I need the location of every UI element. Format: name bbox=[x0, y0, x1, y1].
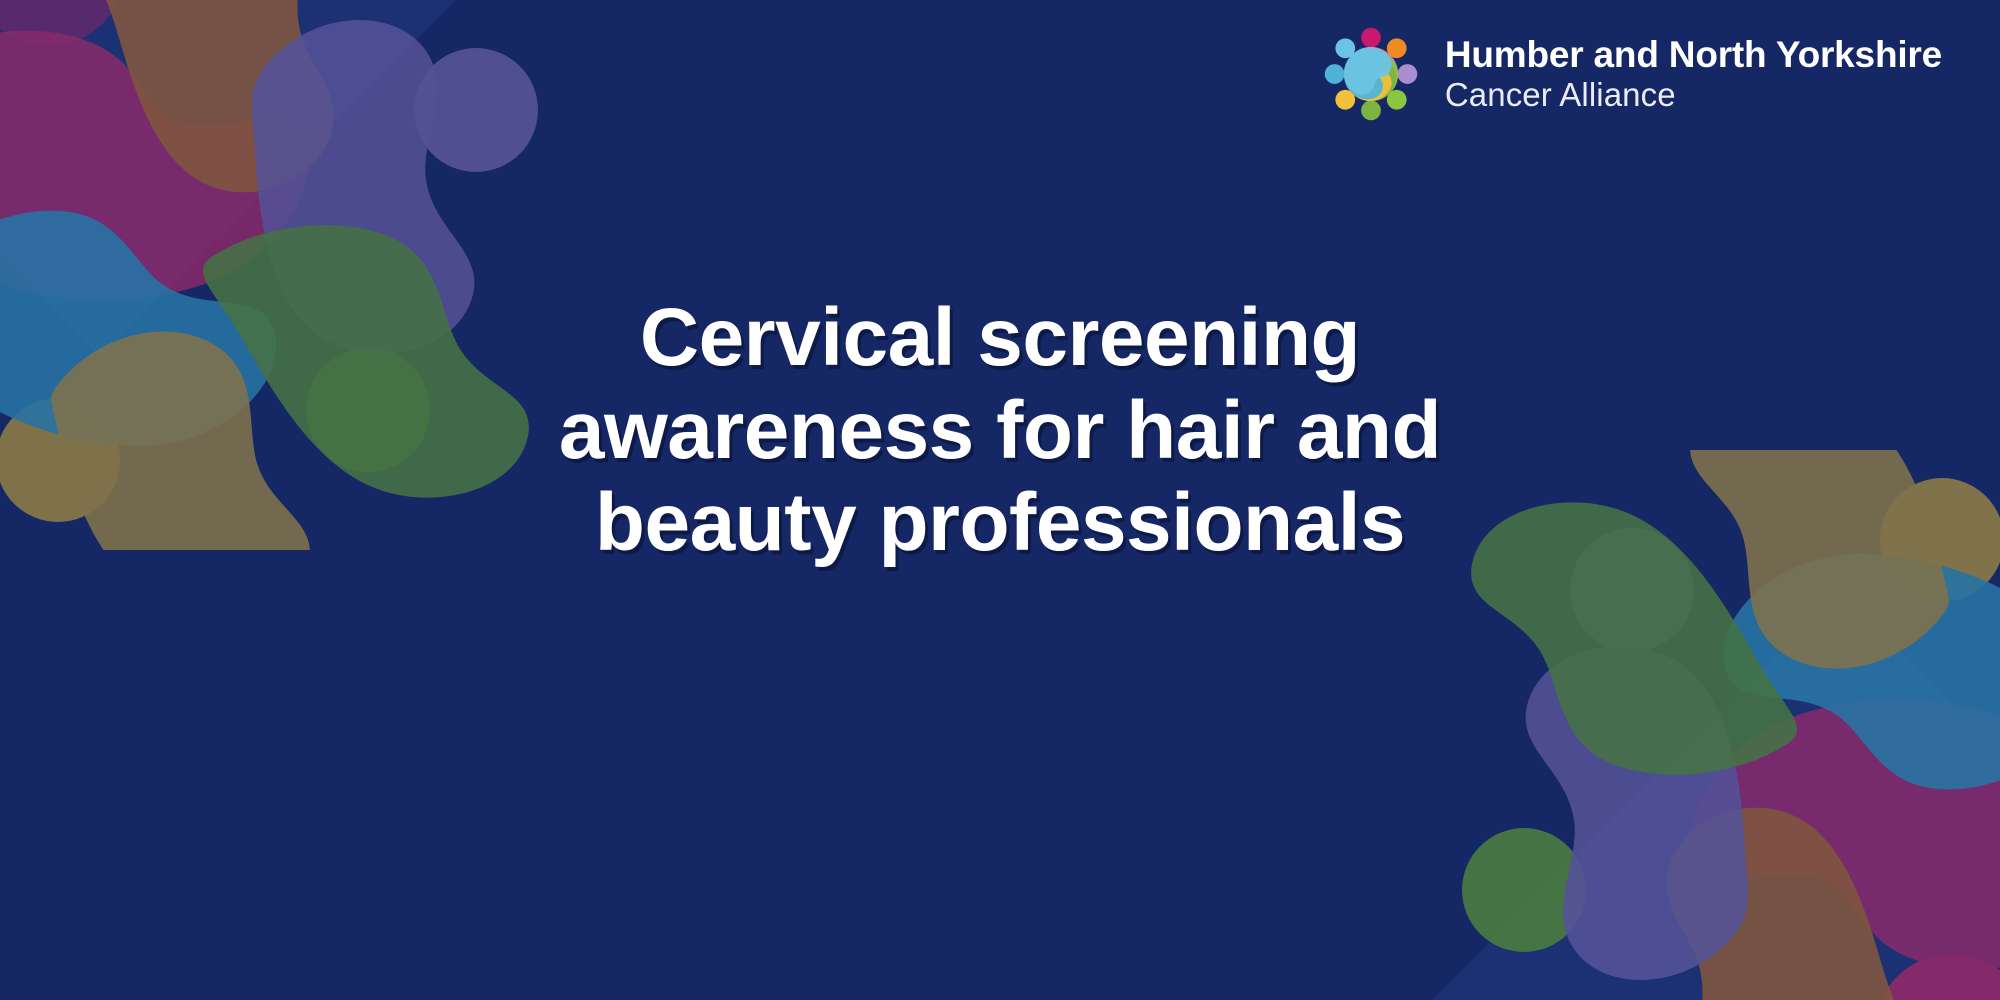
organisation-name-line1: Humber and North Yorkshire bbox=[1445, 35, 1942, 75]
diamond-overlay-bottom-right bbox=[1402, 592, 2000, 1000]
event-title-line-2: awareness for hair and bbox=[360, 385, 1640, 478]
cancer-alliance-people-circle-icon bbox=[1319, 22, 1423, 126]
event-title-line-3: beauty professionals bbox=[360, 477, 1640, 570]
event-title-line-1: Cervical screening bbox=[360, 292, 1640, 385]
event-banner: Humber and North Yorkshire Cancer Allian… bbox=[0, 0, 2000, 1000]
organisation-name: Humber and North Yorkshire Cancer Allian… bbox=[1445, 35, 1942, 113]
organisation-name-line2: Cancer Alliance bbox=[1445, 77, 1942, 113]
organisation-logo: Humber and North Yorkshire Cancer Allian… bbox=[1319, 22, 1942, 126]
event-title: Cervical screening awareness for hair an… bbox=[0, 292, 2000, 570]
